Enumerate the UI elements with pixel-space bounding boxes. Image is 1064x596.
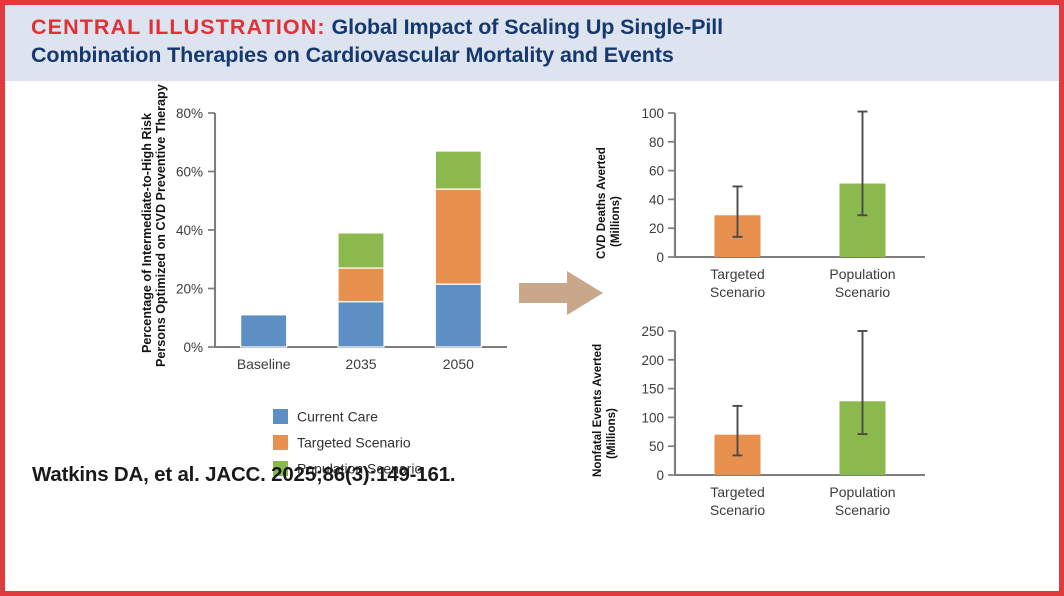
- y-tick-label: 0: [656, 468, 664, 483]
- y-tick-label: 80%: [176, 106, 203, 121]
- cvd-deaths-chart-panel: CVD Deaths Averted (Millions) 0204060801…: [593, 99, 943, 311]
- legend-swatch-current-care: [273, 409, 288, 424]
- y-axis-title-line-2: Persons Optimized on CVD Preventive Ther…: [154, 84, 168, 367]
- x-category-label: Population: [829, 266, 895, 282]
- coverage-chart-panel: Percentage of Intermediate-to-High Risk …: [137, 95, 537, 395]
- coverage-chart: Percentage of Intermediate-to-High Risk …: [137, 95, 537, 395]
- legend-label-current-care: Current Care: [297, 409, 378, 425]
- y-axis-title-line-2: (Millions): [605, 408, 618, 459]
- y-tick-label: 80: [649, 135, 664, 150]
- x-category-label: Targeted: [710, 484, 764, 500]
- bar-segment-current-care: [435, 284, 481, 347]
- coverage-bars: [241, 151, 482, 347]
- x-category-label: Population: [829, 484, 895, 500]
- y-axis-title-line-1: Percentage of Intermediate-to-High Risk: [140, 112, 154, 353]
- cvd-deaths-category-labels: TargetedScenarioPopulationScenario: [710, 266, 896, 300]
- bar-segment-targeted-scenario: [435, 189, 481, 284]
- y-axis-title: Percentage of Intermediate-to-High Risk …: [140, 84, 168, 367]
- y-tick-label: 40: [649, 192, 664, 207]
- central-illustration-figure: CENTRAL ILLUSTRATION: Global Impact of S…: [0, 0, 1064, 596]
- y-axis-title: CVD Deaths Averted (Millions): [595, 147, 622, 259]
- nonfatal-events-chart: Nonfatal Events Averted (Millions) 05010…: [593, 309, 943, 531]
- legend-swatch-targeted-scenario: [273, 435, 288, 450]
- y-tick-label: 60: [649, 164, 664, 179]
- x-category-label: 2050: [443, 356, 474, 372]
- central-illustration-tag: CENTRAL ILLUSTRATION:: [31, 15, 326, 39]
- y-axis-title-line-1: Nonfatal Events Averted: [591, 344, 604, 477]
- bar-segment-current-care: [241, 315, 287, 347]
- y-axis-title: Nonfatal Events Averted (Millions): [591, 344, 618, 477]
- banner-title-text-1: Global Impact of Scaling Up Single-Pill: [326, 15, 723, 39]
- cvd-deaths-chart: CVD Deaths Averted (Millions) 0204060801…: [593, 99, 943, 311]
- y-tick-label: 0: [656, 250, 664, 265]
- banner-title-line-1: CENTRAL ILLUSTRATION: Global Impact of S…: [31, 14, 1033, 42]
- figure-banner: CENTRAL ILLUSTRATION: Global Impact of S…: [5, 5, 1059, 81]
- x-category-label: Baseline: [237, 356, 291, 372]
- x-category-label: Scenario: [835, 284, 890, 300]
- bar-segment-population-scenario: [435, 151, 481, 189]
- bar-segment-population-scenario: [338, 233, 384, 268]
- x-category-label: Scenario: [835, 502, 890, 518]
- right-arrow-shape: [519, 271, 603, 315]
- y-tick-label: 60%: [176, 165, 203, 180]
- x-category-label: Scenario: [710, 502, 765, 518]
- x-category-label: Scenario: [710, 284, 765, 300]
- y-tick-label: 20: [649, 221, 664, 236]
- y-tick-label: 100: [641, 410, 664, 425]
- nonfatal-events-chart-panel: Nonfatal Events Averted (Millions) 05010…: [593, 309, 943, 531]
- y-tick-label: 20%: [176, 282, 203, 297]
- y-tick-label: 250: [641, 324, 664, 339]
- bar-segment-targeted-scenario: [338, 268, 384, 302]
- y-tick-label: 50: [649, 439, 664, 454]
- bar-segment-current-care: [338, 302, 384, 347]
- citation-text: Watkins DA, et al. JACC. 2025;86(3):149-…: [32, 463, 455, 487]
- y-tick-label: 100: [641, 106, 664, 121]
- legend-label-targeted-scenario: Targeted Scenario: [297, 435, 411, 451]
- y-axis-title-line-1: CVD Deaths Averted: [595, 147, 608, 259]
- banner-title-line-2: Combination Therapies on Cardiovascular …: [31, 42, 1033, 70]
- coverage-category-labels: Baseline20352050: [237, 356, 474, 372]
- y-axis-title-line-2: (Millions): [609, 196, 622, 247]
- cvd-deaths-bars: [715, 112, 886, 257]
- y-tick-label: 150: [641, 382, 664, 397]
- y-tick-label: 40%: [176, 223, 203, 238]
- nonfatal-events-bars: [715, 331, 886, 475]
- x-category-label: 2035: [345, 356, 376, 372]
- y-tick-label: 0%: [183, 340, 203, 355]
- x-category-label: Targeted: [710, 266, 764, 282]
- figure-canvas: Percentage of Intermediate-to-High Risk …: [5, 81, 1059, 592]
- y-tick-label: 200: [641, 353, 664, 368]
- nonfatal-events-category-labels: TargetedScenarioPopulationScenario: [710, 484, 896, 518]
